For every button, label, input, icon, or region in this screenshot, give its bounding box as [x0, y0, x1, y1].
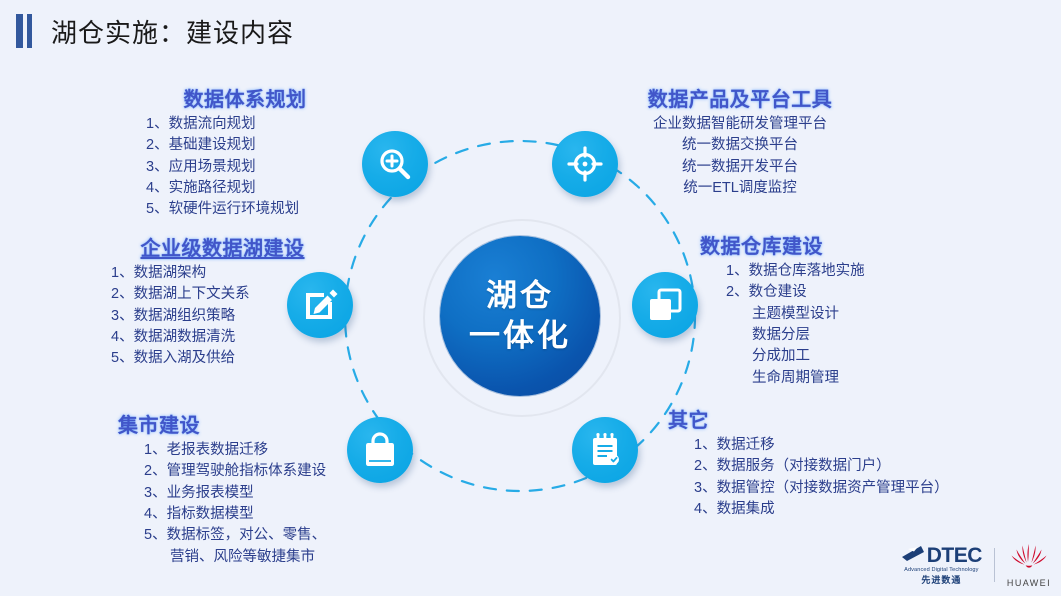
list-item: 统一数据开发平台: [590, 157, 890, 178]
dtec-wordmark: DTEC: [927, 545, 982, 566]
dtec-arrow-icon: [901, 545, 925, 566]
huawei-flower-icon: [1008, 542, 1050, 577]
list-item: 2、基础建设规划: [120, 135, 370, 156]
block-list-others: 1、数据迁移 2、数据服务（对接数据门户） 3、数据管控（对接数据资产管理平台）…: [668, 435, 1008, 520]
title-accent-bars: [16, 14, 33, 48]
block-data-warehouse: 数据仓库建设 1、数据仓库落地实施 2、数仓建设 主题模型设计 数据分层 分成加…: [700, 230, 1000, 389]
block-heading-enterprise-data-lake: 企业级数据湖建设: [85, 232, 360, 261]
list-item: 生命周期管理: [700, 368, 1000, 389]
block-list-data-products-platform: 企业数据智能研发管理平台 统一数据交换平台 统一数据开发平台 统一ETL调度监控: [590, 114, 890, 199]
block-heading-others: 其它: [668, 404, 1008, 433]
list-item: 3、数据管控（对接数据资产管理平台）: [668, 478, 1008, 499]
list-item: 5、数据标签，对公、零售、: [118, 525, 398, 546]
huawei-wordmark: HUAWEI: [1007, 578, 1051, 588]
huawei-logo: HUAWEI: [1007, 542, 1051, 588]
list-item: 2、数仓建设: [700, 282, 1000, 303]
center-hub-line-1: 湖仓: [486, 276, 554, 316]
block-list-data-system-planning: 1、数据流向规划 2、基础建设规划 3、应用场景规划 4、实施路径规划 5、软硬…: [120, 114, 370, 221]
node-bottom-right[interactable]: [572, 417, 638, 483]
list-item: 3、数据湖组织策略: [85, 306, 360, 327]
list-item: 4、数据湖数据清洗: [85, 327, 360, 348]
block-enterprise-data-lake: 企业级数据湖建设 1、数据湖架构 2、数据湖上下文关系 3、数据湖组织策略 4、…: [85, 232, 360, 370]
list-item: 5、软硬件运行环境规划: [120, 199, 370, 220]
list-item: 1、数据仓库落地实施: [700, 261, 1000, 282]
footer-logo-group: DTEC Advanced Digital Technology 先进数通 HU…: [901, 542, 1051, 588]
list-item: 营销、风险等敏捷集市: [118, 547, 398, 568]
list-item: 分成加工: [700, 346, 1000, 367]
list-item: 1、数据迁移: [668, 435, 1008, 456]
logo-divider: [994, 548, 995, 582]
block-list-mart-construction: 1、老报表数据迁移 2、管理驾驶舱指标体系建设 3、业务报表模型 4、指标数据模…: [118, 440, 398, 568]
copy-duplicate-icon: [647, 287, 683, 323]
block-list-data-warehouse: 1、数据仓库落地实施 2、数仓建设 主题模型设计 数据分层 分成加工 生命周期管…: [700, 261, 1000, 389]
block-heading-data-warehouse: 数据仓库建设: [700, 230, 1000, 259]
node-top-left[interactable]: [362, 131, 428, 197]
list-item: 1、数据流向规划: [120, 114, 370, 135]
list-item: 5、数据入湖及供给: [85, 348, 360, 369]
center-hub-line-2: 一体化: [469, 316, 571, 356]
list-item: 3、业务报表模型: [118, 483, 398, 504]
dtec-chinese-name: 先进数通: [921, 576, 961, 585]
dtec-logo-top: DTEC: [901, 545, 982, 566]
block-data-products-platform: 数据产品及平台工具 企业数据智能研发管理平台 统一数据交换平台 统一数据开发平台…: [590, 83, 890, 199]
title-accent-bar-1: [16, 14, 23, 48]
list-item: 统一ETL调度监控: [590, 178, 890, 199]
list-item: 2、管理驾驶舱指标体系建设: [118, 461, 398, 482]
list-item: 统一数据交换平台: [590, 135, 890, 156]
page-title: 湖仓实施：建设内容: [51, 13, 294, 50]
list-item: 1、数据湖架构: [85, 263, 360, 284]
list-item: 2、数据湖上下文关系: [85, 284, 360, 305]
block-data-system-planning: 数据体系规划 1、数据流向规划 2、基础建设规划 3、应用场景规划 4、实施路径…: [120, 83, 370, 221]
list-item: 主题模型设计: [700, 304, 1000, 325]
dtec-tagline: Advanced Digital Technology: [904, 568, 978, 574]
node-right[interactable]: [632, 272, 698, 338]
list-item: 1、老报表数据迁移: [118, 440, 398, 461]
block-heading-data-products-platform: 数据产品及平台工具: [590, 83, 890, 112]
notepad-check-icon: [588, 432, 622, 468]
slide-title-bar: 湖仓实施：建设内容: [0, 0, 1061, 62]
block-list-enterprise-data-lake: 1、数据湖架构 2、数据湖上下文关系 3、数据湖组织策略 4、数据湖数据清洗 5…: [85, 263, 360, 370]
list-item: 4、指标数据模型: [118, 504, 398, 525]
list-item: 企业数据智能研发管理平台: [590, 114, 890, 135]
block-others: 其它 1、数据迁移 2、数据服务（对接数据门户） 3、数据管控（对接数据资产管理…: [668, 404, 1008, 520]
block-heading-data-system-planning: 数据体系规划: [120, 83, 370, 112]
title-accent-bar-2: [27, 14, 32, 48]
list-item: 3、应用场景规划: [120, 157, 370, 178]
dtec-logo: DTEC Advanced Digital Technology 先进数通: [901, 545, 982, 585]
block-heading-mart-construction: 集市建设: [118, 409, 398, 438]
center-hub-circle: 湖仓 一体化: [440, 236, 600, 396]
list-item: 数据分层: [700, 325, 1000, 346]
zoom-in-icon: [377, 146, 413, 182]
list-item: 2、数据服务（对接数据门户）: [668, 456, 1008, 477]
list-item: 4、数据集成: [668, 499, 1008, 520]
list-item: 4、实施路径规划: [120, 178, 370, 199]
block-mart-construction: 集市建设 1、老报表数据迁移 2、管理驾驶舱指标体系建设 3、业务报表模型 4、…: [118, 409, 398, 568]
